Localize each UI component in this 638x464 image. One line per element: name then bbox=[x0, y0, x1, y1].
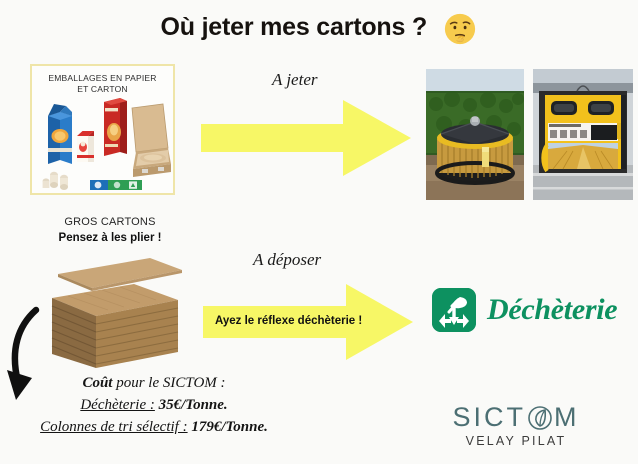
packaging-panel: EMBALLAGES EN PAPIER ET CARTON bbox=[30, 64, 175, 195]
small-juice-carton bbox=[77, 131, 94, 162]
packaging-illustration bbox=[32, 92, 177, 195]
sictom-logo-part2: M bbox=[554, 402, 580, 432]
cardboard-tubes bbox=[43, 172, 68, 190]
gros-cartons-subtitle: Pensez à les plier ! bbox=[30, 232, 190, 244]
sictom-logo: SICT M VELAY PILAT bbox=[416, 402, 616, 448]
cost-heading-bold: Coût bbox=[82, 375, 112, 391]
gros-cartons-title: GROS CARTONS bbox=[30, 216, 190, 228]
decheterie-logo: Déchèterie bbox=[432, 288, 617, 332]
page-title: Où jeter mes cartons ? bbox=[0, 10, 638, 44]
red-cereal-box bbox=[104, 98, 127, 156]
yellow-arrow-right-top bbox=[201, 98, 413, 178]
cost-block: Coût pour le SICTOM : Déchèterie : 35€/T… bbox=[4, 372, 304, 438]
cost-line-colonnes: Colonnes de tri sélectif : 179€/Tonne. bbox=[4, 416, 304, 438]
blue-milk-carton bbox=[48, 104, 72, 164]
recycling-label-strip bbox=[90, 180, 142, 190]
decheterie-pictogram-icon bbox=[432, 288, 476, 332]
cost-heading-rest: pour le SICTOM : bbox=[112, 375, 225, 391]
packaging-caption-line1: EMBALLAGES EN PAPIER bbox=[32, 73, 173, 84]
poster-canvas: Où jeter mes cartons ? EMBALLAGES EN PAP… bbox=[0, 0, 638, 464]
sictom-logo-subtitle: VELAY PILAT bbox=[416, 434, 616, 448]
cost-line-colonnes-value: 179€/Tonne. bbox=[191, 419, 268, 435]
flow-bottom-label: A déposer bbox=[253, 250, 321, 270]
cost-line-decheterie-value: 35€/Tonne. bbox=[159, 397, 228, 413]
sictom-logo-wordmark: SICT M bbox=[416, 402, 616, 432]
thinking-face-emoji bbox=[443, 12, 477, 46]
round-wood-recycling-container-photo bbox=[426, 69, 524, 200]
flow-bottom-arrow-text: Ayez le réflexe déchèterie ! bbox=[215, 315, 362, 327]
yellow-recycling-kiosk-photo bbox=[533, 69, 633, 200]
page-title-text: Où jeter mes cartons ? bbox=[161, 13, 428, 42]
cost-line-decheterie-label: Déchèterie : bbox=[80, 397, 155, 413]
open-pizza-box bbox=[132, 104, 171, 177]
cost-line-decheterie: Déchèterie : 35€/Tonne. bbox=[4, 394, 304, 416]
sictom-logo-part1: SICT bbox=[452, 402, 526, 432]
flow-top-label: A jeter bbox=[272, 70, 317, 90]
cost-line-colonnes-label: Colonnes de tri sélectif : bbox=[40, 419, 187, 435]
decheterie-logo-word: Déchèterie bbox=[487, 293, 617, 327]
cost-heading: Coût pour le SICTOM : bbox=[4, 372, 304, 394]
leaf-in-o-icon bbox=[527, 405, 553, 431]
